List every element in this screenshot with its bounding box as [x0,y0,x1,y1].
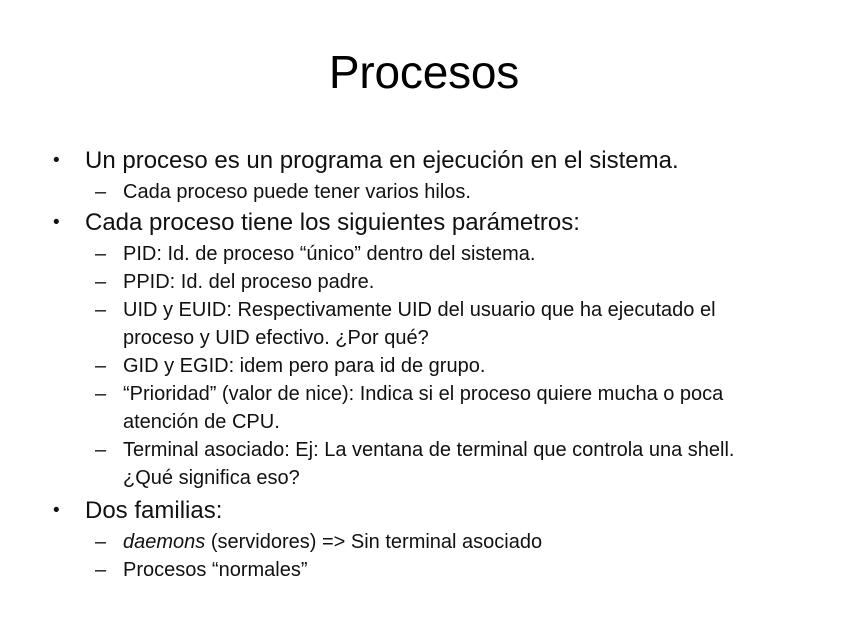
list-item-text: Dos familias: [85,494,803,527]
list-item-text: Cada proceso puede tener varios hilos. [123,178,790,206]
list-item-text: Cada proceso tiene los siguientes paráme… [85,206,803,239]
list-item-text: “Prioridad” (valor de nice): Indica si e… [123,380,790,436]
list-item: • Un proceso es un programa en ejecución… [0,144,848,177]
bullet-dash-icon: – [95,268,117,296]
list-item: – PPID: Id. del proceso padre. [0,268,848,296]
bullet-dash-icon: – [95,178,117,206]
list-item-text: UID y EUID: Respectivamente UID del usua… [123,296,790,352]
list-item-text-rest: (servidores) => Sin terminal asociado [205,531,542,553]
list-item: • Dos familias: [0,494,848,527]
list-item: – daemons (servidores) => Sin terminal a… [0,528,848,556]
list-item: – “Prioridad” (valor de nice): Indica si… [0,380,848,436]
list-item: – Cada proceso puede tener varios hilos. [0,178,848,206]
bullet-dash-icon: – [95,380,117,408]
list-item: – Terminal asociado: Ej: La ventana de t… [0,436,848,492]
bullet-dash-icon: – [95,528,117,556]
list-item-text: GID y EGID: idem pero para id de grupo. [123,352,790,380]
bullet-dash-icon: – [95,436,117,464]
list-item-text: Procesos “normales” [123,556,790,584]
list-item-text: PPID: Id. del proceso padre. [123,268,790,296]
list-item: – GID y EGID: idem pero para id de grupo… [0,352,848,380]
emphasis-term: daemons [123,531,205,553]
slide: Procesos • Un proceso es un programa en … [0,0,848,636]
list-item: – PID: Id. de proceso “único” dentro del… [0,240,848,268]
bullet-dot-icon: • [53,494,73,527]
list-item-text: Un proceso es un programa en ejecución e… [85,144,803,177]
slide-body: • Un proceso es un programa en ejecución… [0,144,848,584]
list-item: – UID y EUID: Respectivamente UID del us… [0,296,848,352]
bullet-dot-icon: • [53,206,73,239]
bullet-dot-icon: • [53,144,73,177]
page-title: Procesos [0,45,848,99]
bullet-dash-icon: – [95,556,117,584]
list-item-text: daemons (servidores) => Sin terminal aso… [123,528,790,556]
bullet-dash-icon: – [95,240,117,268]
list-item: – Procesos “normales” [0,556,848,584]
list-item-text: Terminal asociado: Ej: La ventana de ter… [123,436,790,492]
bullet-dash-icon: – [95,352,117,380]
list-item: • Cada proceso tiene los siguientes pará… [0,206,848,239]
list-item-text: PID: Id. de proceso “único” dentro del s… [123,240,790,268]
bullet-dash-icon: – [95,296,117,324]
